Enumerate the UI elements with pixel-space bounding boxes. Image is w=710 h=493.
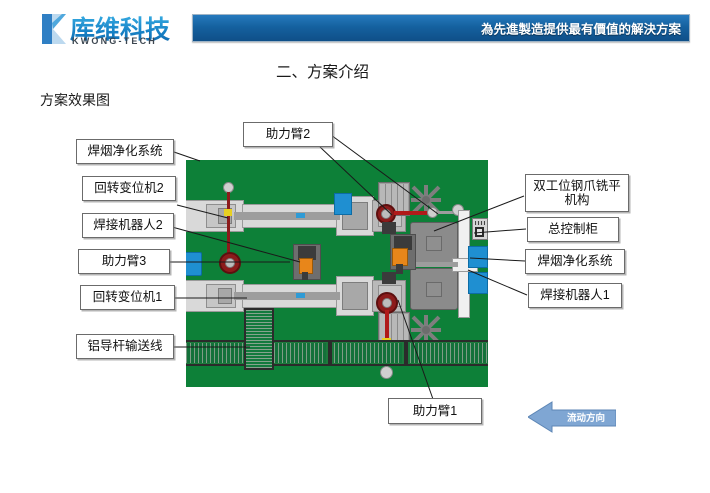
header-tagline: 為先進製造提供最有價值的解決方案 — [481, 19, 681, 38]
fume-purification-unit-2 — [334, 193, 352, 215]
flow-direction-label: 流动方向 — [562, 410, 610, 424]
label-assist-arm-3[interactable]: 助力臂3 — [78, 249, 170, 274]
label-text: 回转变位机1 — [93, 290, 162, 304]
label-welding-robot-1[interactable]: 焊接机器人1 — [528, 283, 622, 308]
label-text: 双工位钢爪铣平机构 — [530, 179, 624, 208]
slide-root: 库维科技 KWONG-TECH 為先進製造提供最有價值的解決方案 二、方案介绍 … — [0, 0, 710, 493]
label-rotary-positioner-1[interactable]: 回转变位机1 — [80, 285, 175, 310]
page-title: 二、方案介绍 — [276, 60, 369, 82]
label-assist-arm-2[interactable]: 助力臂2 — [243, 122, 333, 147]
layout-diagram-canvas — [186, 160, 488, 387]
label-text: 焊烟净化系统 — [537, 254, 612, 268]
blue-drum-tank — [186, 252, 202, 276]
label-fume-purification-system-1[interactable]: 焊烟净化系统 — [525, 249, 625, 274]
label-text: 焊烟净化系统 — [87, 144, 162, 158]
label-text: 焊接机器人2 — [93, 218, 162, 232]
company-logo: 库维科技 KWONG-TECH — [40, 12, 190, 48]
welding-robot-1-cabinet — [468, 272, 488, 294]
label-dual-station-steel-claw-milling-mechanism[interactable]: 双工位钢爪铣平机构 — [525, 174, 629, 212]
label-fume-purification-system-2[interactable]: 焊烟净化系统 — [76, 139, 174, 164]
label-welding-robot-2[interactable]: 焊接机器人2 — [82, 213, 174, 238]
flow-direction-arrow: 流动方向 — [528, 399, 616, 435]
section-subtitle: 方案效果图 — [40, 90, 110, 110]
label-assist-arm-1[interactable]: 助力臂1 — [388, 398, 482, 424]
label-text: 助力臂2 — [266, 127, 310, 141]
label-main-control-cabinet[interactable]: 总控制柜 — [527, 217, 619, 242]
label-text: 助力臂1 — [413, 404, 457, 418]
fume-purification-unit-1 — [468, 246, 488, 268]
label-text: 铝导杆输送线 — [87, 339, 162, 353]
label-rotary-positioner-2[interactable]: 回转变位机2 — [82, 176, 176, 201]
header-banner: 為先進製造提供最有價值的解決方案 — [192, 14, 690, 42]
label-aluminum-rod-conveyor-line[interactable]: 铝导杆输送线 — [76, 334, 174, 359]
label-text: 焊接机器人1 — [540, 288, 609, 302]
kwong-k-mark-icon — [40, 13, 68, 45]
logo-text-en: KWONG-TECH — [72, 36, 157, 46]
label-text: 总控制柜 — [548, 222, 598, 236]
label-text: 回转变位机2 — [94, 181, 163, 195]
label-text: 助力臂3 — [102, 254, 146, 268]
